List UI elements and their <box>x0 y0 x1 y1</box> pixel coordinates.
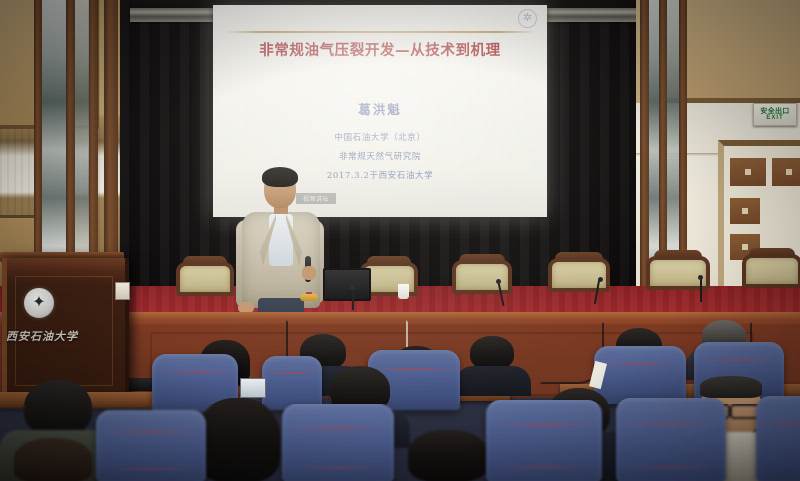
slide-affiliation-line-2: 非常规天然气研究院 <box>213 150 547 162</box>
seat-piping-lower <box>293 467 383 469</box>
wall-power-socket[interactable] <box>115 282 130 300</box>
seat-piping-lower <box>498 466 591 468</box>
lecture-hall-photo: 安全出口 EXIT ✲ 非常规油气压裂开发—从技术到机理 葛洪魁 中国石油大学（… <box>0 0 800 481</box>
desk-monitor <box>323 268 371 301</box>
presenter-right-hand <box>302 266 316 280</box>
audience-person-head <box>24 380 92 436</box>
audience-seat[interactable] <box>486 400 602 481</box>
wood-slat-right-a <box>640 0 649 300</box>
exit-sign: 安全出口 EXIT <box>753 103 797 126</box>
audience-tablet-device[interactable] <box>240 378 266 398</box>
audience-person-head <box>14 438 92 481</box>
table-microphone <box>352 288 354 310</box>
seat-piping <box>104 431 199 433</box>
seat-piping-lower <box>107 468 195 470</box>
door-inlay-1 <box>730 158 766 186</box>
slide-affiliation-line-1: 中国石油大学（北京） <box>213 131 547 143</box>
presenter-shirt <box>269 214 293 266</box>
seat-piping-lower <box>627 466 715 468</box>
seat-piping <box>290 427 386 429</box>
stage-chair[interactable] <box>452 260 512 304</box>
gavel-object <box>300 294 318 301</box>
table-microphone-head-icon <box>698 275 703 280</box>
paper-cup <box>398 284 409 299</box>
chair-back <box>742 254 800 288</box>
seat-piping <box>374 368 453 370</box>
table-microphone <box>700 278 702 302</box>
audience-seat[interactable] <box>282 404 394 481</box>
chair-back <box>548 258 610 292</box>
table-microphone-head-icon <box>598 277 603 282</box>
audience-seat[interactable] <box>594 346 686 404</box>
audience-person-hair <box>700 376 762 398</box>
audience-person-head <box>470 336 514 370</box>
seat-piping <box>600 363 679 365</box>
slide-author-name: 葛洪魁 <box>213 99 547 118</box>
stage-chair[interactable] <box>742 254 800 304</box>
exit-sign-english-label: EXIT <box>766 115 783 122</box>
table-microphone-head-icon <box>496 279 501 284</box>
door-inlay-3 <box>730 198 760 224</box>
audience-seat[interactable] <box>616 398 726 481</box>
slide-watermark-logo-icon: ✲ <box>518 9 537 28</box>
seat-piping <box>624 423 719 425</box>
audience-seat[interactable] <box>96 410 206 481</box>
seat-piping <box>158 371 232 373</box>
door-inlay-2 <box>772 158 800 186</box>
chair-back <box>176 262 234 296</box>
seat-piping <box>760 422 800 424</box>
presenter-hair <box>262 167 298 187</box>
audience-seat[interactable] <box>756 396 800 481</box>
audience-person-shoulders <box>455 366 531 396</box>
university-emblem-icon: ✦ <box>24 288 54 318</box>
seat-piping <box>266 372 318 374</box>
slide-title: 非常规油气压裂开发—从技术到机理 <box>213 39 547 60</box>
seat-piping <box>700 359 777 361</box>
slide-divider-rule <box>225 31 535 33</box>
table-microphone-head-icon <box>350 285 355 290</box>
audience-person-head <box>196 398 280 481</box>
exit-sign-chinese-label: 安全出口 <box>760 108 789 115</box>
podium-institution-label: 西安石油大学 <box>6 328 106 346</box>
chair-back <box>452 260 512 294</box>
seat-piping <box>494 424 594 426</box>
stage-chair[interactable] <box>176 262 234 304</box>
audience-person-head <box>408 430 488 481</box>
audience-seat[interactable] <box>262 356 322 410</box>
